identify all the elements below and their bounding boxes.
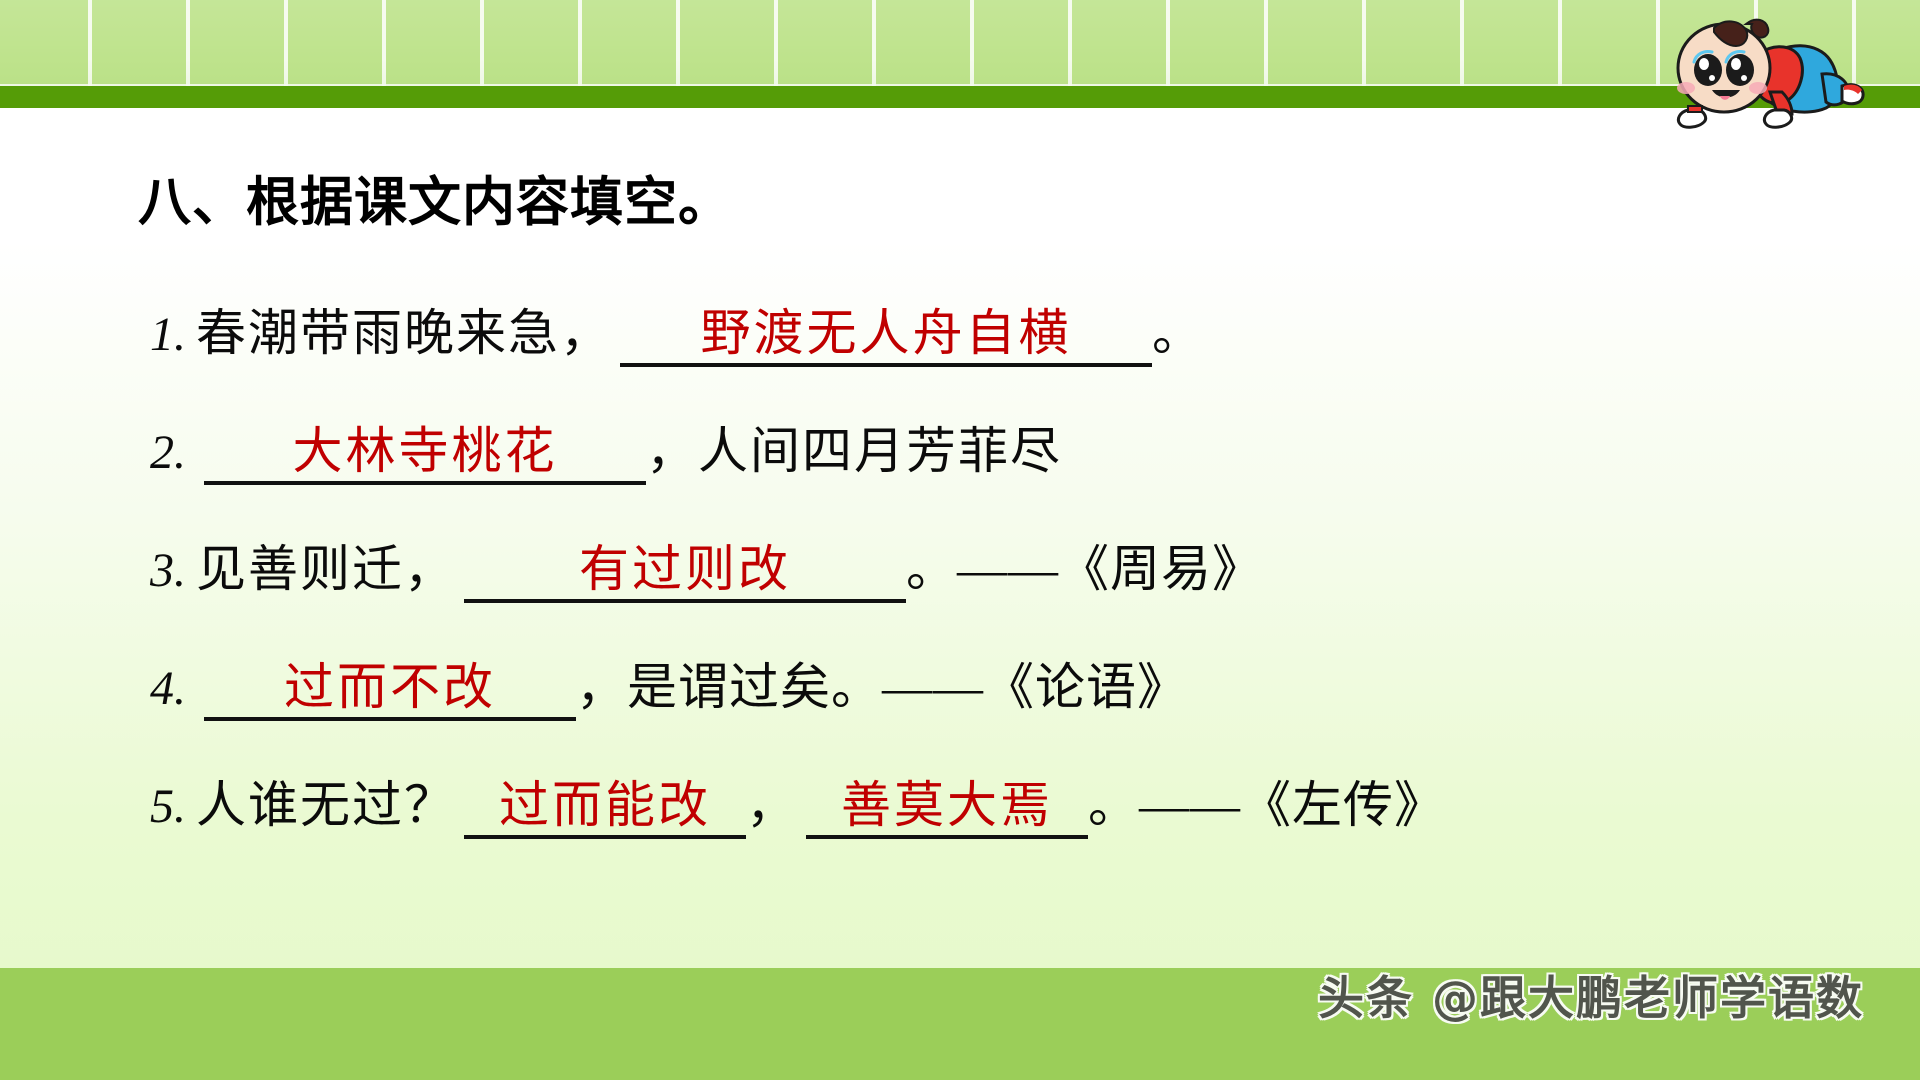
- question-number: 5.: [150, 779, 186, 834]
- answer-blank-2[interactable]: 大林寺桃花: [204, 426, 646, 485]
- question-mid-text: ，: [746, 765, 798, 837]
- question-row-2: 2. 大林寺桃花 ，人间四月芳菲尽: [150, 411, 1890, 529]
- answer-blank-5b[interactable]: 善莫大焉: [806, 780, 1088, 839]
- header-green-bar: [0, 86, 1920, 108]
- question-number: 4.: [150, 661, 186, 716]
- question-suffix-text: ，人间四月芳菲尽: [646, 411, 1062, 483]
- question-prompt-text: 春潮带雨晚来急，: [196, 293, 612, 365]
- question-suffix-text: ，是谓过矣。——《论语》: [576, 647, 1188, 719]
- question-row-5: 5. 人谁无过？ 过而能改 ， 善莫大焉 。——《左传》: [150, 765, 1890, 883]
- slide-content: 八、根据课文内容填空。 1. 春潮带雨晚来急， 野渡无人舟自横 。 2. 大林寺…: [0, 108, 1920, 968]
- question-suffix-text: 。——《左传》: [1088, 765, 1445, 837]
- question-row-1: 1. 春潮带雨晚来急， 野渡无人舟自横 。: [150, 293, 1890, 411]
- answer-blank-1[interactable]: 野渡无人舟自横: [620, 308, 1152, 367]
- answer-blank-4[interactable]: 过而不改: [204, 662, 576, 721]
- question-prompt-text: 人谁无过？: [196, 765, 456, 837]
- question-row-4: 4. 过而不改 ，是谓过矣。——《论语》: [150, 647, 1890, 765]
- question-number: 1.: [150, 307, 186, 362]
- question-number: 2.: [150, 425, 186, 480]
- question-prompt-text: 见善则迁，: [196, 529, 456, 601]
- answer-blank-5a[interactable]: 过而能改: [464, 780, 746, 839]
- question-number: 3.: [150, 543, 186, 598]
- question-suffix-text: 。: [1152, 293, 1204, 365]
- watermark-text: 头条 @跟大鹏老师学语数: [1318, 962, 1864, 1028]
- slide-root: 八、根据课文内容填空。 1. 春潮带雨晚来急， 野渡无人舟自横 。 2. 大林寺…: [0, 0, 1920, 1080]
- question-row-3: 3. 见善则迁， 有过则改 。——《周易》: [150, 529, 1890, 647]
- page-title: 八、根据课文内容填空。: [138, 160, 732, 236]
- answer-blank-3[interactable]: 有过则改: [464, 544, 906, 603]
- question-suffix-text: 。——《周易》: [906, 529, 1263, 601]
- slide-header: [0, 0, 1920, 108]
- question-list: 1. 春潮带雨晚来急， 野渡无人舟自横 。 2. 大林寺桃花 ，人间四月芳菲尽 …: [150, 293, 1890, 883]
